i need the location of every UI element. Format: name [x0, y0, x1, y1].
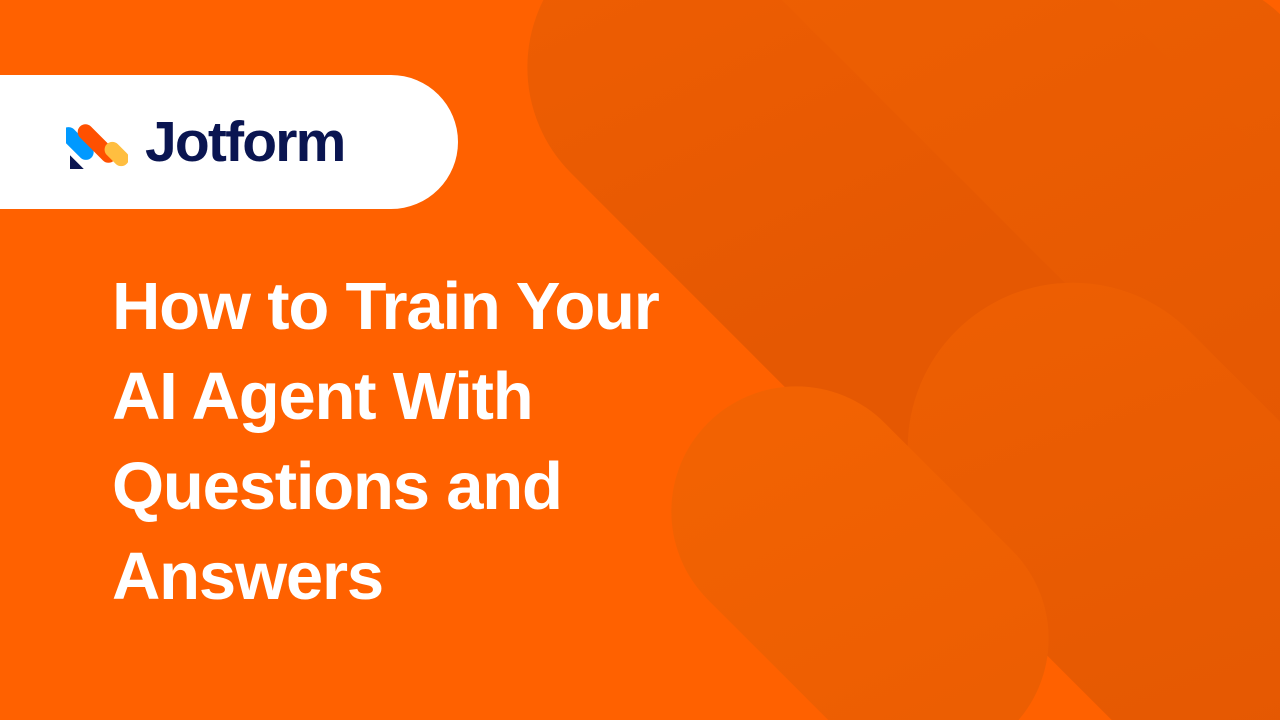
headline-line-1: How to Train Your [112, 262, 812, 352]
jotform-logo[interactable]: Jotform [66, 111, 345, 173]
page-title: How to Train Your AI Agent With Question… [112, 262, 812, 622]
jotform-logo-mark [66, 111, 128, 173]
headline-line-4: Answers [112, 532, 812, 622]
jotform-wordmark: Jotform [145, 114, 345, 171]
headline-line-2: AI Agent With [112, 352, 812, 442]
logo-card: Jotform [0, 75, 458, 209]
cover-canvas: Jotform How to Train Your AI Agent With … [0, 0, 1280, 720]
diagonal-capsule-3 [839, 214, 1280, 720]
headline-line-3: Questions and [112, 442, 812, 532]
diagonal-capsule-4 [996, 0, 1280, 479]
